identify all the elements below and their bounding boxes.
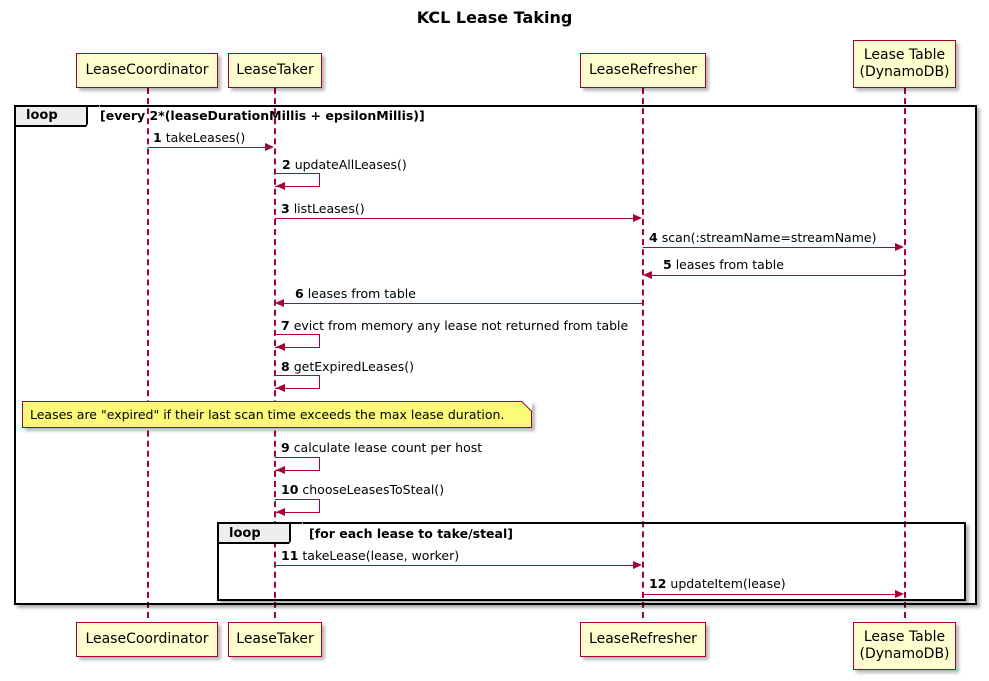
message-5-label: 5 leases from table: [663, 257, 784, 272]
message-2-text: updateAllLeases(): [295, 157, 407, 172]
participant-label: LeaseRefresher: [589, 631, 697, 648]
message-3-number: 3: [281, 201, 290, 216]
message-8-label: 8 getExpiredLeases(): [281, 359, 414, 374]
message-10-number: 10: [281, 482, 298, 497]
message-12-line: [643, 594, 896, 595]
message-12-text: updateItem(lease): [670, 576, 785, 591]
message-9-label: 9 calculate lease count per host: [281, 440, 482, 455]
participant-label: LeaseCoordinator: [85, 631, 208, 648]
participant-label: LeaseRefresher: [589, 62, 697, 79]
participant-leaserefresher-bottom[interactable]: LeaseRefresher: [580, 622, 706, 657]
message-7-text: evict from memory any lease not returned…: [294, 318, 629, 333]
message-12-number: 12: [649, 576, 666, 591]
participant-label: LeaseTaker: [236, 62, 313, 79]
message-5-arrowhead: [643, 271, 652, 279]
participant-label: LeaseTaker: [236, 631, 313, 648]
message-4-text: scan(:streamName=streamName): [662, 230, 877, 245]
participant-leasetaker-bottom[interactable]: LeaseTaker: [228, 622, 322, 657]
message-3-label: 3 listLeases(): [281, 201, 365, 216]
message-5-number: 5: [663, 257, 672, 272]
message-2-arrowhead: [276, 182, 285, 190]
message-3-arrowhead: [633, 214, 642, 222]
message-11-arrowhead: [633, 561, 642, 569]
message-11-number: 11: [281, 548, 298, 563]
message-7-label: 7 evict from memory any lease not return…: [281, 318, 628, 333]
participant-label: LeaseCoordinator: [85, 62, 208, 79]
group-outer-loop-keyword: loop: [26, 108, 58, 124]
message-10-text: chooseLeasesToSteal(): [302, 482, 444, 497]
group-inner-loop-condition: [for each lease to take/steal]: [309, 526, 513, 542]
sequence-diagram: KCL Lease Taking LeaseCoordinator LeaseT…: [0, 0, 989, 681]
message-11-label: 11 takeLease(lease, worker): [281, 548, 459, 563]
message-10-arrowhead: [276, 508, 285, 516]
message-6-label: 6 leases from table: [295, 286, 416, 301]
message-9-arrowhead: [276, 466, 285, 474]
group-inner-loop-keyword: loop: [229, 526, 261, 542]
group-outer-loop-condition: [every 2*(leaseDurationMillis + epsilonM…: [100, 108, 425, 124]
message-10-label: 10 chooseLeasesToSteal(): [281, 482, 444, 497]
participant-leasetable-bottom[interactable]: Lease Table (DynamoDB): [853, 622, 956, 670]
participant-leasecoordinator-top[interactable]: LeaseCoordinator: [76, 53, 218, 88]
message-3-text: listLeases(): [294, 201, 365, 216]
message-12-arrowhead: [895, 590, 904, 598]
message-9-number: 9: [281, 440, 290, 455]
message-11-text: takeLease(lease, worker): [302, 548, 459, 563]
message-1-arrowhead: [265, 143, 274, 151]
page-title: KCL Lease Taking: [0, 8, 989, 27]
message-8-arrowhead: [276, 384, 285, 392]
note-expired-leases: Leases are "expired" if their last scan …: [22, 401, 532, 428]
participant-leasetaker-top[interactable]: LeaseTaker: [228, 53, 322, 88]
message-5-line: [652, 275, 905, 276]
message-7-number: 7: [281, 318, 290, 333]
message-2-number: 2: [282, 157, 291, 172]
message-7-arrowhead: [276, 343, 285, 351]
message-12-label: 12 updateItem(lease): [649, 576, 786, 591]
message-6-number: 6: [295, 286, 304, 301]
message-4-number: 4: [649, 230, 658, 245]
message-1-label: 1 takeLeases(): [153, 130, 245, 145]
message-6-arrowhead: [275, 299, 284, 307]
message-6-text: leases from table: [308, 286, 416, 301]
message-1-text: takeLeases(): [166, 130, 246, 145]
message-5-text: leases from table: [676, 257, 784, 272]
participant-label: Lease Table (DynamoDB): [859, 47, 949, 81]
participant-label: Lease Table (DynamoDB): [859, 629, 949, 663]
message-8-number: 8: [281, 359, 290, 374]
message-4-label: 4 scan(:streamName=streamName): [649, 230, 876, 245]
participant-leasetable-top[interactable]: Lease Table (DynamoDB): [853, 40, 956, 88]
message-8-text: getExpiredLeases(): [294, 359, 414, 374]
message-1-number: 1: [153, 130, 162, 145]
message-4-line: [643, 247, 896, 248]
participant-leasecoordinator-bottom[interactable]: LeaseCoordinator: [76, 622, 218, 657]
participant-leaserefresher-top[interactable]: LeaseRefresher: [580, 53, 706, 88]
message-3-line: [275, 218, 634, 219]
note-text: Leases are "expired" if their last scan …: [30, 407, 504, 423]
message-9-text: calculate lease count per host: [294, 440, 482, 455]
message-11-line: [275, 565, 634, 566]
message-6-line: [284, 303, 643, 304]
message-1-line: [148, 147, 266, 148]
message-2-label: 2 updateAllLeases(): [282, 157, 407, 172]
message-4-arrowhead: [895, 243, 904, 251]
